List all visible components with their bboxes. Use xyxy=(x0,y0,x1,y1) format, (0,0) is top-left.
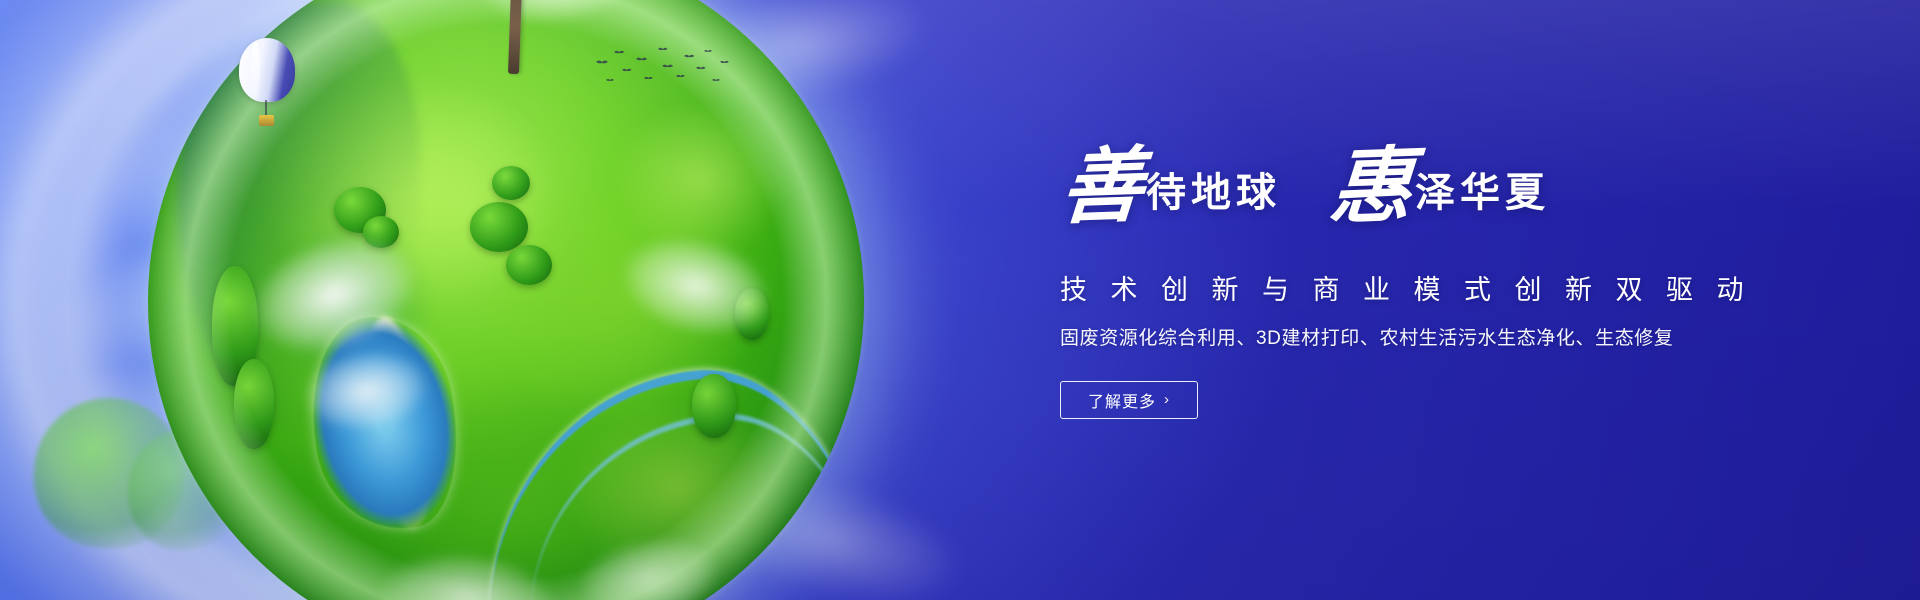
learn-more-label: 了解更多 xyxy=(1088,388,1156,412)
shrub xyxy=(234,359,274,449)
hero-copy-block: 善待地球惠泽华夏 技 术 创 新 与 商 业 模 式 创 新 双 驱 动 固废资… xyxy=(1058,0,1758,600)
hero-subtitle: 技 术 创 新 与 商 业 模 式 创 新 双 驱 动 xyxy=(1060,268,1752,307)
chevron-right-icon: › xyxy=(1164,392,1170,407)
learn-more-button[interactable]: 了解更多 › xyxy=(1060,381,1198,419)
hot-air-balloon-icon xyxy=(239,38,295,130)
headline-rest-2: 泽华夏 xyxy=(1415,160,1550,218)
headline-big-char-1: 善 xyxy=(1058,145,1146,230)
bird-flock-icon xyxy=(592,46,732,92)
shrub xyxy=(470,202,528,252)
shrub xyxy=(506,245,552,285)
headline-big-char-2: 惠 xyxy=(1327,145,1415,230)
balloon-rope xyxy=(265,100,267,116)
balloon-basket xyxy=(259,115,274,126)
hero-description: 固废资源化综合利用、3D建材打印、农村生活污水生态净化、生态修复 xyxy=(1060,323,1674,350)
page-title: 善待地球惠泽华夏 xyxy=(1058,148,1550,230)
globe-cloud xyxy=(458,0,657,39)
shrub xyxy=(492,166,530,200)
shrub xyxy=(692,374,736,438)
hero-banner: 善待地球惠泽华夏 技 术 创 新 与 商 业 模 式 创 新 双 驱 动 固废资… xyxy=(0,0,1920,600)
headline-rest-1: 待地球 xyxy=(1146,160,1281,218)
balloon-envelope xyxy=(239,38,295,102)
